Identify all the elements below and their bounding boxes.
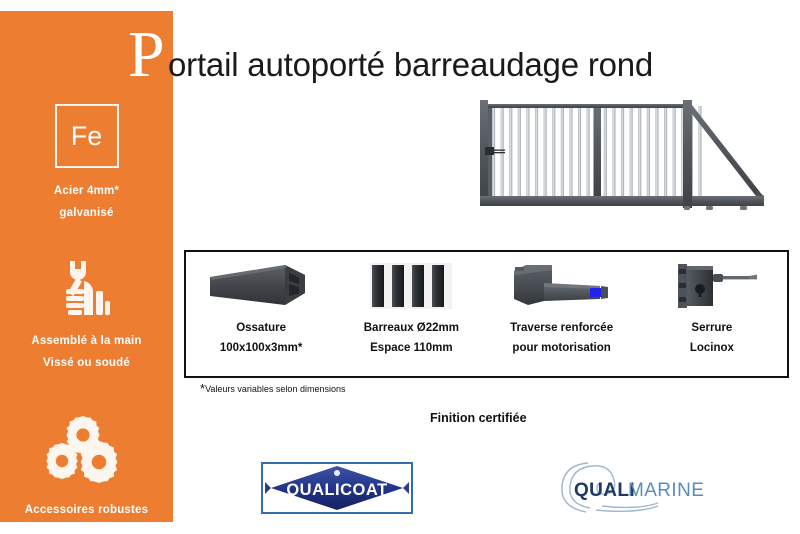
gate-rollers xyxy=(684,206,747,210)
svg-text:QUALICOAT: QUALICOAT xyxy=(286,481,387,499)
gate-top-rail xyxy=(488,104,685,108)
feature-serrure-line1: Serrure xyxy=(691,322,732,334)
feature-traverse: Traverse renforcée pour motorisation xyxy=(487,252,637,376)
fe-symbol-label: Fe xyxy=(71,123,103,150)
gate-right-post xyxy=(683,100,692,208)
svg-text:QUALI: QUALI xyxy=(574,480,635,501)
feature-barreaux: Barreaux Ø22mm Espace 110mm xyxy=(336,252,486,376)
lock-icon xyxy=(664,258,760,314)
feature-traverse-line2: pour motorisation xyxy=(512,342,610,354)
sidebar-caption-assembly-line2: Vissé ou soudé xyxy=(0,352,173,374)
feature-serrure: Serrure Locinox xyxy=(637,252,787,376)
feature-barreaux-line1: Barreaux Ø22mm xyxy=(364,322,459,334)
sliding-gate-illustration xyxy=(468,92,793,224)
feature-ossature-line1: Ossature xyxy=(236,322,286,334)
sidebar-caption-accessories-line1: Accessoires robustes xyxy=(0,499,173,521)
sidebar-block-assembly: Assemblé à la main Vissé ou soudé xyxy=(0,257,173,374)
product-sheet-page: Fe Acier 4mm* galvanisé xyxy=(0,0,800,534)
sidebar-block-accessories: Accessoires robustes xyxy=(0,414,173,521)
feature-ossature-line2: 100x100x3mm* xyxy=(220,342,303,354)
round-bars-icon xyxy=(370,258,452,314)
footnote: *Valeurs variables selon dimensions xyxy=(200,384,345,394)
sidebar-block-material: Fe Acier 4mm* galvanisé xyxy=(0,104,173,224)
sidebar-caption-material-line1: Acier 4mm* xyxy=(0,180,173,202)
qualimarine-logo: QUALI MARINE xyxy=(556,460,716,516)
steel-profile-icon xyxy=(207,258,315,314)
qualicoat-logo: QUALICOAT xyxy=(261,462,413,514)
title-drop-cap: P xyxy=(128,22,165,88)
sidebar-caption-assembly-line1: Assemblé à la main xyxy=(0,330,173,352)
sidebar-caption-material-line2: galvanisé xyxy=(0,202,173,224)
features-panel: Ossature 100x100x3mm* xyxy=(184,250,789,378)
feature-ossature: Ossature 100x100x3mm* xyxy=(186,252,336,376)
gate-counterweight-triangle xyxy=(692,105,764,206)
gears-icon xyxy=(41,414,133,486)
gate-bars xyxy=(492,104,702,198)
feature-barreaux-line2: Espace 110mm xyxy=(370,342,452,354)
page-title: P ortail autoporté barreaudage rond xyxy=(128,25,788,91)
reinforced-crossbar-icon xyxy=(504,258,620,314)
title-text: ortail autoporté barreaudage rond xyxy=(168,45,653,85)
finition-label: Finition certifiée xyxy=(430,411,527,425)
svg-text:MARINE: MARINE xyxy=(628,480,704,501)
footnote-text: Valeurs variables selon dimensions xyxy=(205,384,345,394)
hand-wrench-icon xyxy=(56,257,118,319)
fe-element-icon: Fe xyxy=(55,104,119,168)
feature-traverse-line1: Traverse renforcée xyxy=(510,322,613,334)
feature-serrure-line2: Locinox xyxy=(690,342,734,354)
